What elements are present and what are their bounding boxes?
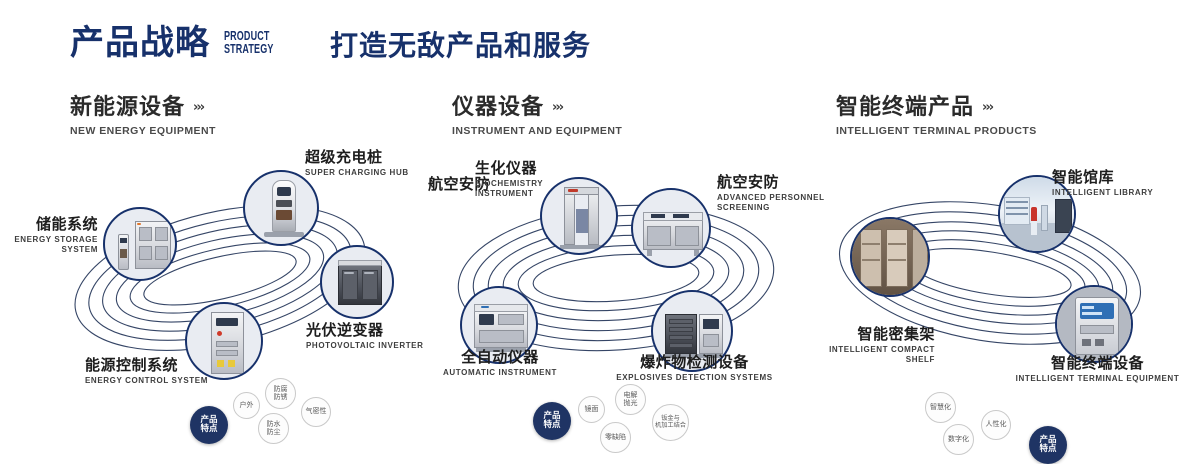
- caption-intelligent-compact-shelf: 智能密集架 INTELLIGENT COMPACT SHELF: [805, 326, 935, 365]
- node-super-charging-hub[interactable]: [243, 170, 319, 246]
- feature-chip: 数字化: [943, 424, 974, 455]
- cluster-instrument: 产品 特点 镜面 电解 抛光 钣金与 机加工结合 零缺陷: [420, 150, 820, 400]
- product-strategy-infographic: 产品战略 PRODUCT STRATEGY 打造无敌产品和服务 新能源设备 ››…: [0, 0, 1200, 422]
- node-intelligent-terminal-equipment[interactable]: [1055, 285, 1133, 363]
- chevron-right-triple-icon: ›››: [552, 101, 562, 115]
- page-title-cn: 产品战略: [70, 26, 210, 60]
- section-title-new-energy: 新能源设备 ››› NEW ENERGY EQUIPMENT: [70, 96, 216, 137]
- section-title-cn: 仪器设备 ›››: [452, 96, 622, 120]
- feature-chip: 人性化: [981, 410, 1011, 440]
- caption-energy-control-system: 能源控制系统 ENERGY CONTROL SYSTEM: [85, 357, 245, 386]
- cluster-intelligent-terminal: 智慧化 人性化 数字化 产品 特点: [810, 155, 1200, 405]
- feature-chip: 防腐 防锈: [265, 378, 296, 409]
- chevron-right-triple-icon: ›››: [193, 101, 203, 115]
- feature-chip: 零缺陷: [600, 422, 631, 453]
- chevron-right-triple-icon: ›››: [982, 101, 992, 115]
- compact-shelf-icon: [852, 219, 928, 295]
- section-title-cn: 新能源设备 ›››: [70, 96, 216, 120]
- section-title-text: 仪器设备: [452, 96, 544, 120]
- section-title-en: NEW ENERGY EQUIPMENT: [70, 125, 216, 137]
- section-title-text: 新能源设备: [70, 96, 185, 120]
- page-slogan: 打造无敌产品和服务: [330, 32, 591, 60]
- page-header: 产品战略 PRODUCT STRATEGY: [70, 26, 344, 60]
- caption-automatic-instrument: 全自动仪器 AUTOMATIC INSTRUMENT: [425, 349, 575, 378]
- section-title-intelligent-terminal: 智能终端产品 ››› INTELLIGENT TERMINAL PRODUCTS: [836, 96, 1037, 137]
- feature-chip: 智慧化: [925, 392, 956, 423]
- page-title-en: PRODUCT STRATEGY: [224, 30, 310, 60]
- node-energy-storage-system[interactable]: [103, 207, 177, 281]
- node-advanced-personnel-screening[interactable]: [631, 188, 711, 268]
- screening-machine-icon: [633, 190, 709, 266]
- section-title-text: 智能终端产品: [836, 96, 974, 120]
- node-intelligent-compact-shelf[interactable]: [850, 217, 930, 297]
- core-feature-label: 产品 特点: [543, 412, 560, 430]
- core-feature-bubble: 产品 特点: [533, 402, 571, 440]
- core-feature-bubble: 产品 特点: [1029, 426, 1067, 464]
- caption-intelligent-terminal-equipment: 智能终端设备 INTELLIGENT TERMINAL EQUIPMENT: [1005, 355, 1190, 384]
- caption-biochemistry-instrument: 生化仪器 BIOCHEMISTRY INSTRUMENT: [475, 160, 585, 199]
- feature-chip: 防水 防尘: [258, 413, 289, 444]
- page-title-en-line2: STRATEGY: [224, 43, 310, 56]
- section-title-instrument: 仪器设备 ››› INSTRUMENT AND EQUIPMENT: [452, 96, 622, 137]
- core-feature-label: 产品 特点: [1039, 436, 1056, 454]
- feature-chip: 镜面: [578, 396, 605, 423]
- battery-cabinet-icon: [105, 209, 175, 279]
- node-photovoltaic-inverter[interactable]: [320, 245, 394, 319]
- feature-chip: 电解 抛光: [615, 384, 646, 415]
- cluster-new-energy: 产品 特点 户外 防腐 防锈 防水 防尘 气密性: [40, 150, 420, 400]
- caption-energy-storage-system: 储能系统 ENERGY STORAGE SYSTEM: [10, 216, 98, 255]
- feature-chip: 气密性: [301, 397, 331, 427]
- terminal-kiosk-icon: [1057, 287, 1131, 361]
- section-title-cn: 智能终端产品 ›››: [836, 96, 1037, 120]
- caption-intelligent-library: 智能馆库 INTELLIGENT LIBRARY: [1052, 169, 1182, 198]
- section-title-en: INTELLIGENT TERMINAL PRODUCTS: [836, 125, 1037, 137]
- charging-pile-icon: [245, 172, 317, 244]
- pv-inverter-icon: [322, 247, 392, 317]
- feature-chip: 户外: [233, 392, 260, 419]
- caption-explosives-detection-systems: 爆炸物检测设备 EXPLOSIVES DETECTION SYSTEMS: [612, 354, 777, 383]
- caption-super-charging-hub: 超级充电桩 SUPER CHARGING HUB: [305, 149, 435, 178]
- core-feature-label: 产品 特点: [200, 416, 217, 434]
- section-title-en: INSTRUMENT AND EQUIPMENT: [452, 125, 622, 137]
- feature-chip: 钣金与 机加工结合: [652, 404, 689, 441]
- core-feature-bubble: 产品 特点: [190, 406, 228, 444]
